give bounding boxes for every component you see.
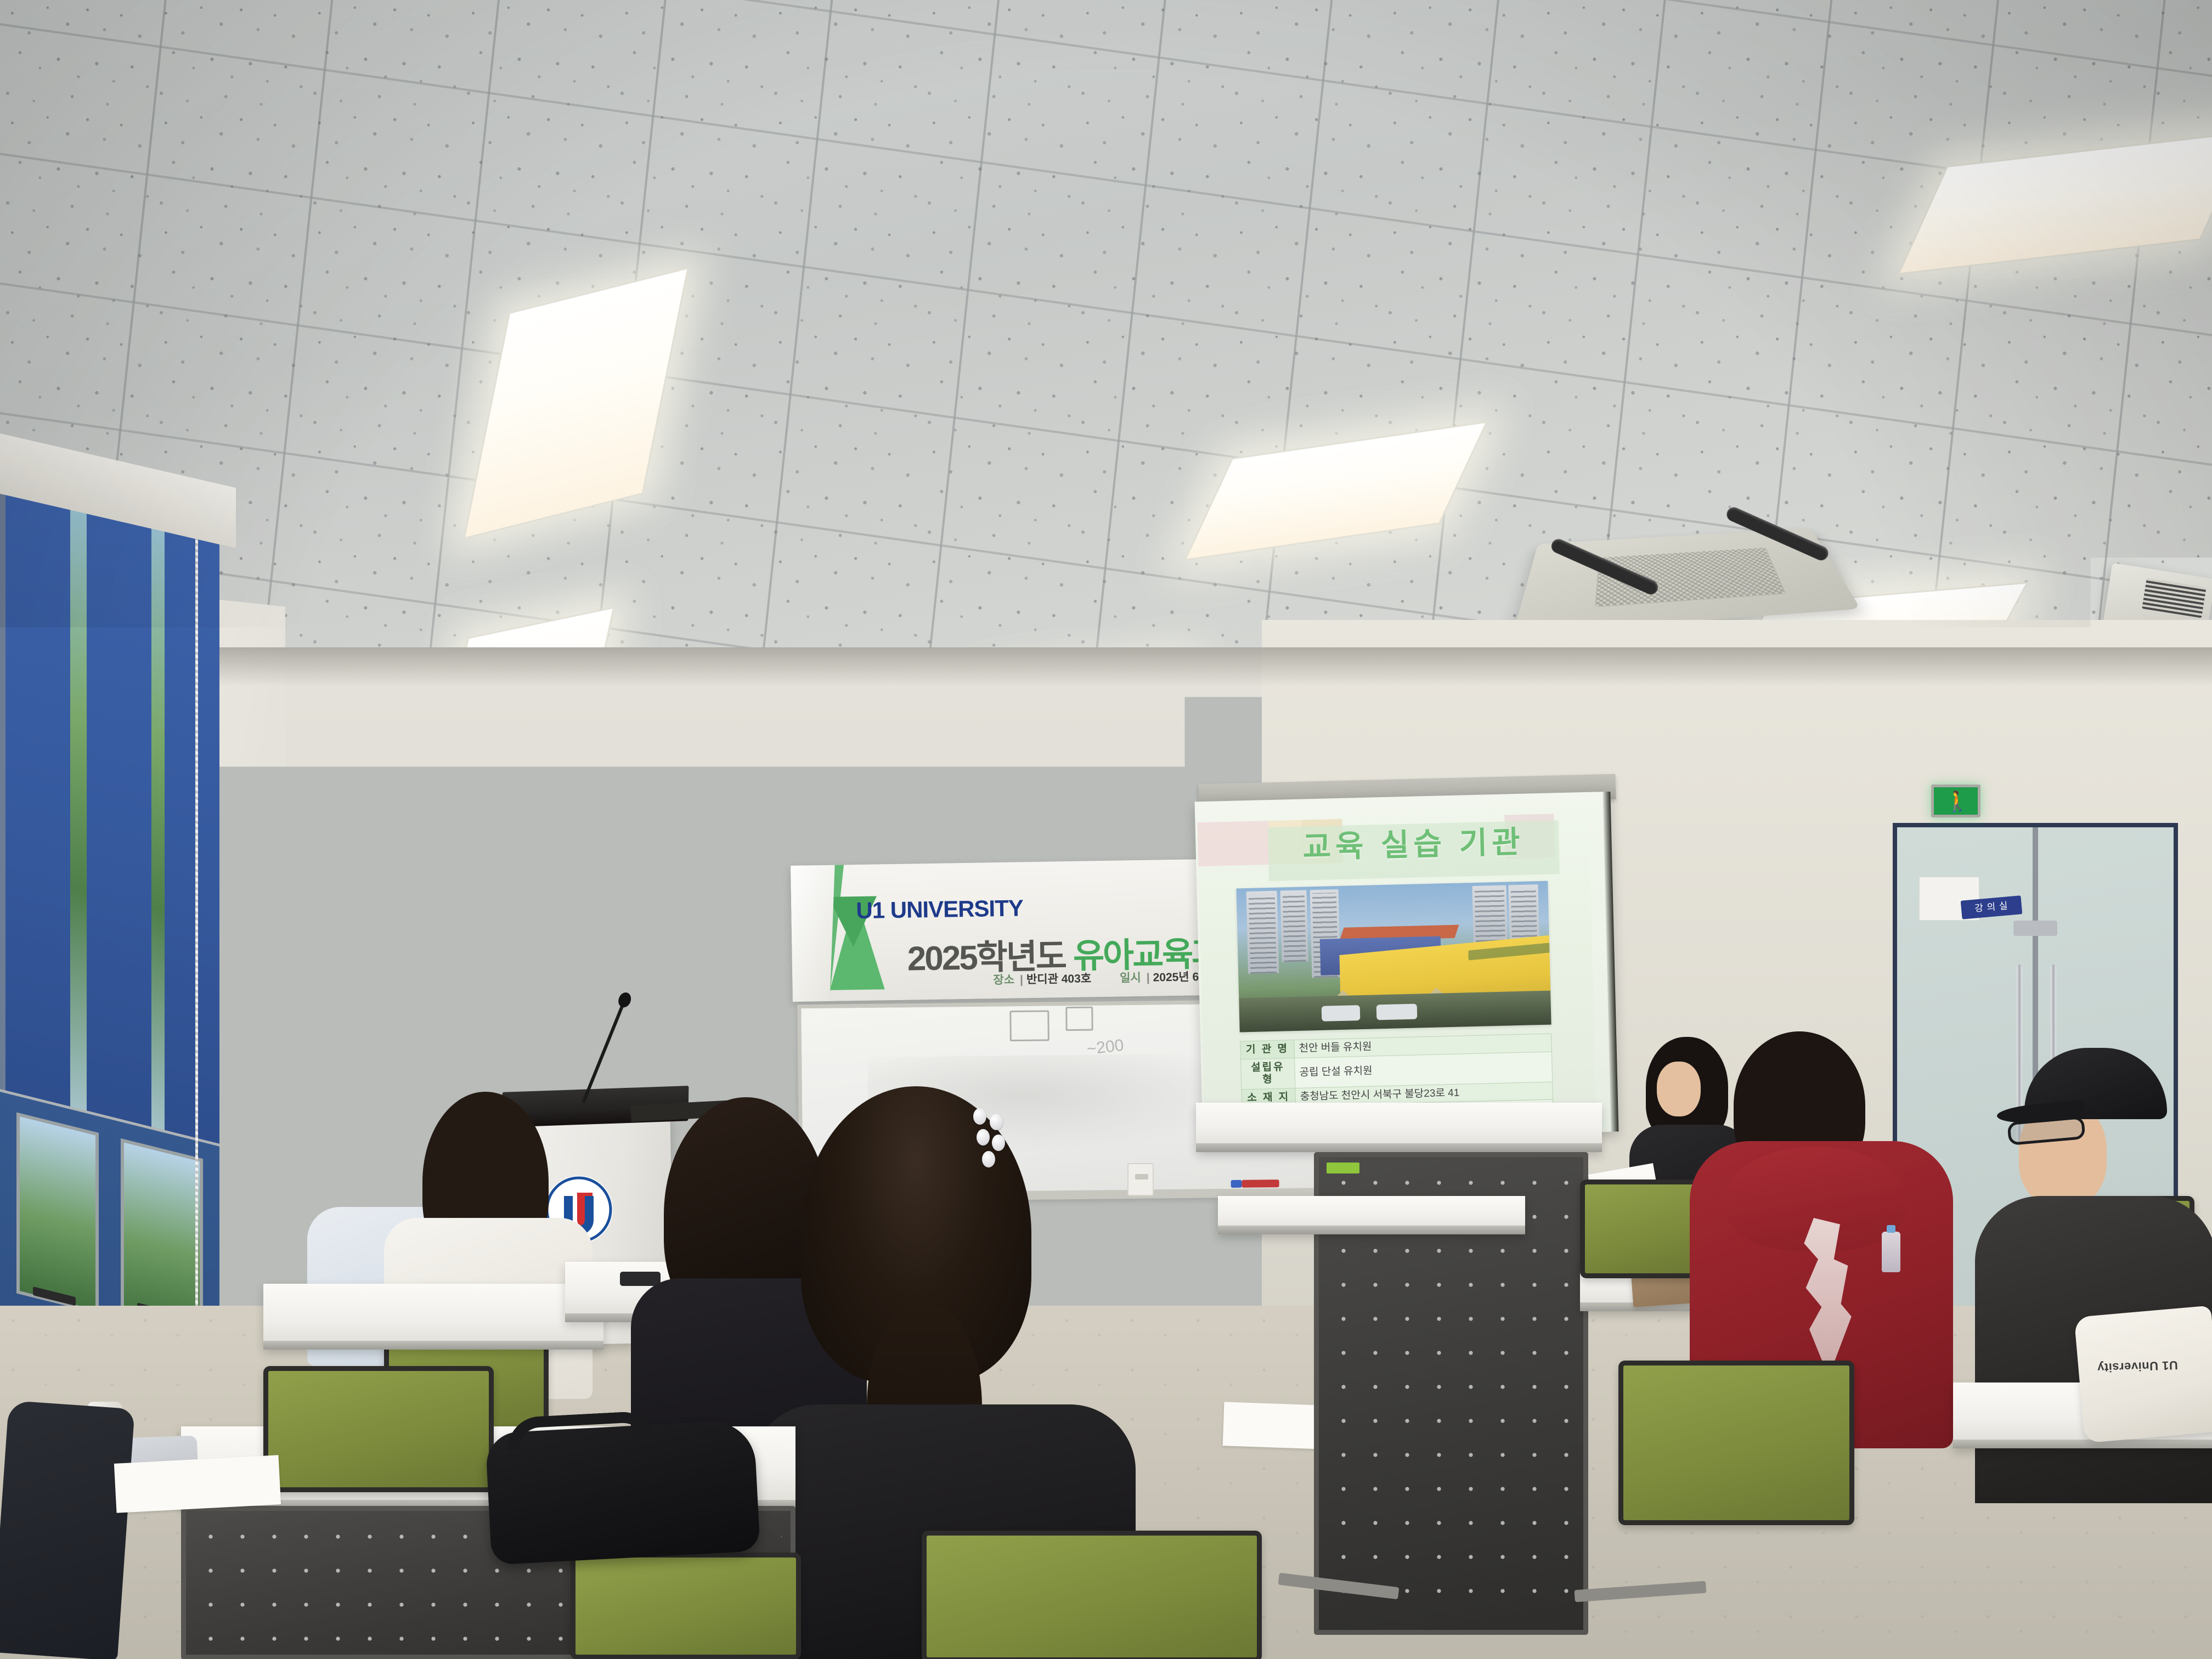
asset-tag-sticker xyxy=(1327,1163,1359,1173)
banner-place-value: 반디관 403호 xyxy=(1026,972,1092,986)
window-glass xyxy=(70,473,89,1169)
window-blind[interactable] xyxy=(87,477,151,1151)
paper-sheet[interactable] xyxy=(114,1455,281,1513)
classroom-chair[interactable] xyxy=(922,1531,1262,1659)
presenter-collar xyxy=(570,1008,610,1036)
side-desk xyxy=(1218,1196,1525,1234)
desk-edge xyxy=(1953,1440,2212,1448)
desk-edge xyxy=(1196,1143,1602,1152)
attendee-face xyxy=(1657,1062,1701,1116)
presenter-name-badge xyxy=(620,1070,648,1084)
whiteboard-marking xyxy=(1065,1007,1093,1031)
water-bottle[interactable] xyxy=(1882,1232,1900,1272)
parked-car xyxy=(1376,1004,1418,1020)
banner-university-name: U1 UNIVERSITY xyxy=(856,895,1023,924)
classroom-photo: U1 UNIVERSITY 2025학년도 유아교육과 학 장소|반디관 403… xyxy=(0,0,2212,1659)
window-blind[interactable] xyxy=(165,496,219,1171)
banner-fold xyxy=(791,857,835,1002)
window-blind[interactable] xyxy=(5,456,70,1131)
banner-date-label: 일시 xyxy=(1120,972,1141,985)
whiteboard-marker[interactable] xyxy=(1231,1180,1242,1188)
whiteboard-eraser[interactable] xyxy=(1242,1180,1279,1188)
apartment-tower xyxy=(1280,890,1308,962)
desk-edge xyxy=(1218,1226,1525,1234)
black-tote-bag[interactable] xyxy=(485,1419,760,1565)
projection-screen: 교육 실습 기관 기 관 명 천안 버들 유 xyxy=(1195,792,1619,1142)
classroom-chair[interactable] xyxy=(1745,1481,1975,1646)
running-person-icon: 🚶 xyxy=(1945,792,1970,811)
presenter-head xyxy=(558,943,618,1015)
slide-title: 교육 실습 기관 xyxy=(1268,826,1559,864)
u1-university-tote-bag[interactable]: U1 University xyxy=(2074,1306,2212,1443)
wall-shadow xyxy=(126,647,2212,686)
classroom-chair[interactable] xyxy=(1580,1180,1706,1278)
student-desk xyxy=(263,1284,603,1350)
door-lock-icon[interactable] xyxy=(2013,921,2057,936)
wall-power-outlet[interactable] xyxy=(1127,1163,1154,1196)
desk-edge xyxy=(263,1341,603,1350)
window-glass xyxy=(16,1112,99,1313)
table-row-label: 설립유형 xyxy=(1241,1058,1295,1089)
hair-clip xyxy=(971,1108,1009,1174)
slide-building-photo xyxy=(1236,881,1551,1032)
whiteboard-marking xyxy=(1009,1010,1049,1041)
emergency-exit-sign: 🚶 xyxy=(1931,785,1980,817)
apartment-tower xyxy=(1246,891,1279,974)
classroom-chair[interactable] xyxy=(571,1553,801,1659)
side-desk xyxy=(1196,1103,1602,1152)
smartphone[interactable] xyxy=(620,1272,661,1286)
banner-place-label: 장소 xyxy=(993,974,1014,987)
parked-car xyxy=(1322,1005,1361,1022)
backpack[interactable] xyxy=(0,1401,135,1659)
tote-bag-text: U1 University xyxy=(2097,1358,2178,1375)
presentation-slide: 교육 실습 기관 기 관 명 천안 버들 유 xyxy=(1197,813,1596,1119)
classroom-chair[interactable] xyxy=(263,1366,494,1492)
table-row-label: 기 관 명 xyxy=(1240,1040,1295,1059)
slide-decoration xyxy=(1197,821,1269,866)
